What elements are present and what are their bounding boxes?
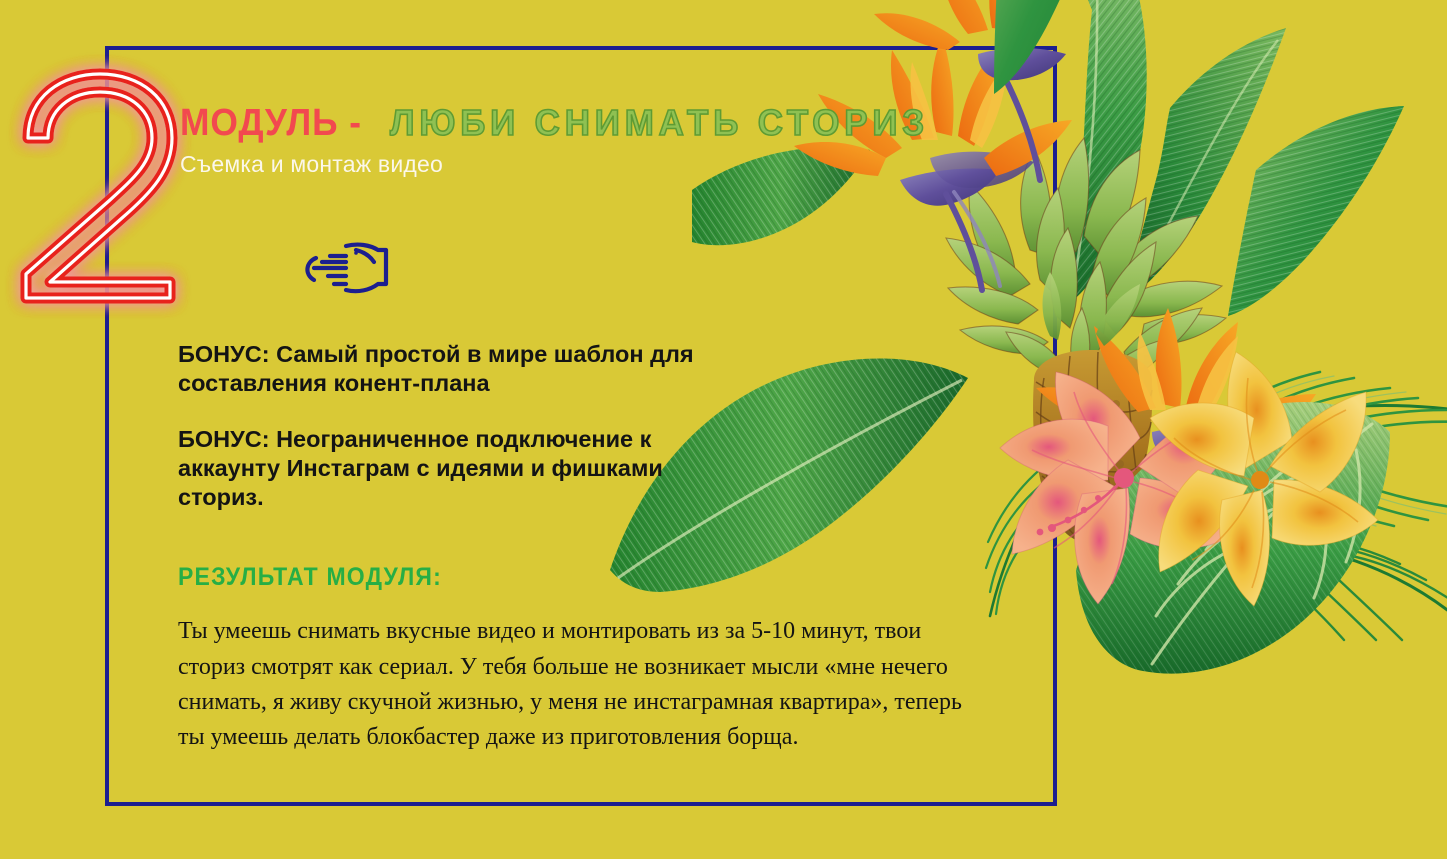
bird-of-paradise-flower-right xyxy=(1036,308,1316,564)
banana-leaf-upper-right xyxy=(1228,106,1404,316)
page-subtitle: Съемка и монтаж видео xyxy=(180,152,945,177)
banana-leaf-back-right xyxy=(1124,28,1286,302)
palm-frond-right xyxy=(1170,372,1447,526)
pineapple-crown xyxy=(946,138,1226,384)
content-column: БОНУС: Самый простой в мире шаблон для с… xyxy=(178,340,978,755)
banana-leaf-top-overlap xyxy=(994,0,1112,94)
result-heading: РЕЗУЛЬТАТ МОДУЛЯ: xyxy=(178,563,914,592)
bonus-item-2: БОНУС: Неограниченное подключение к акка… xyxy=(178,425,718,511)
page-title: МОДУЛЬ -ЛЮБИ СНИМАТЬ СТОРИЗ xyxy=(180,104,945,142)
title-module-label: МОДУЛЬ - xyxy=(180,104,362,142)
pineapple-front-leaves xyxy=(1043,272,1141,346)
pineapple xyxy=(1033,350,1152,542)
bonus-item-1: БОНУС: Самый простой в мире шаблон для с… xyxy=(178,340,718,397)
hibiscus-flower-yellow xyxy=(1150,352,1378,606)
title-module-name: ЛЮБИ СНИМАТЬ СТОРИЗ xyxy=(390,105,929,141)
palm-frond-far-right xyxy=(1230,537,1447,640)
hibiscus-flower-salmon xyxy=(1000,372,1240,604)
module-number-badge: 2 xyxy=(6,66,196,306)
banana-leaf-back xyxy=(1068,0,1147,304)
result-body-text: Ты умеешь снимать вкусные видео и монтир… xyxy=(178,614,968,755)
header-block: МОДУЛЬ -ЛЮБИ СНИМАТЬ СТОРИЗ Съемка и мон… xyxy=(180,104,945,177)
palm-frond-left-lower xyxy=(986,432,1130,616)
pointing-hand-icon xyxy=(300,240,392,298)
monstera-leaf-bottom xyxy=(1076,402,1390,674)
slide-canvas: 2 МОДУЛЬ -ЛЮБИ СНИМАТЬ СТОРИЗ Съемка и м… xyxy=(0,0,1447,859)
